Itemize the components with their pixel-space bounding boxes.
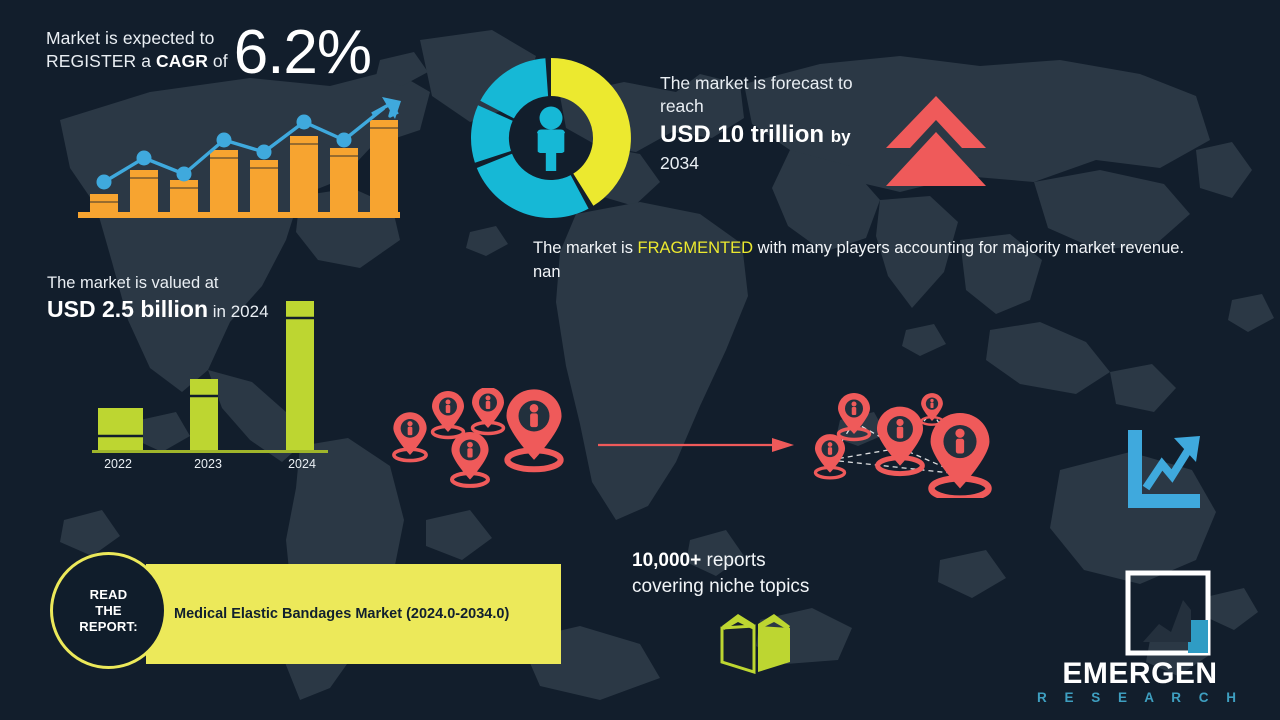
reports-count: 10,000+: [632, 550, 701, 571]
forecast-year: 2034: [660, 152, 910, 174]
forecast-block: The market is forecast to reach USD 10 t…: [660, 72, 910, 174]
cagr-label: Market is expected to REGISTER a CAGR of: [46, 22, 228, 73]
market-value-bar-chart: 2022 2023 2024: [78, 296, 336, 471]
cagr-value: 6.2%: [234, 22, 371, 84]
reports-line2: covering niche topics: [632, 576, 809, 597]
forecast-value: USD 10 trillion: [660, 121, 824, 148]
logo-name: EMERGEN: [1020, 658, 1260, 690]
axis-tick-2022: 2022: [104, 457, 132, 471]
location-pins-network: [808, 386, 1013, 498]
reports-label: reports: [701, 550, 765, 571]
cagr-line2-pre: REGISTER a: [46, 51, 156, 71]
growth-bar-chart: [72, 92, 407, 220]
fragmented-pre: The market is: [533, 239, 638, 257]
read-the-report-label: READTHEREPORT:: [79, 587, 137, 635]
infographic-canvas: Market is expected to REGISTER a CAGR of…: [0, 0, 1280, 720]
valuation-line1: The market is valued at: [47, 272, 377, 294]
cagr-line1: Market is expected to: [46, 28, 214, 48]
forecast-line1: The market is forecast to: [660, 72, 910, 95]
open-book-icon: [718, 612, 794, 674]
fragmented-highlight: FRAGMENTED: [638, 239, 754, 257]
forecast-line2: reach: [660, 95, 910, 118]
person-icon: [537, 107, 565, 172]
up-arrow-icon: [884, 92, 988, 188]
read-the-report-button[interactable]: READTHEREPORT:: [50, 552, 167, 669]
forecast-by: by: [831, 127, 851, 146]
logo-subtitle: R E S E A R C H: [1020, 690, 1260, 705]
growth-chart-icon: [1122, 428, 1202, 510]
cagr-keyword: CAGR: [156, 51, 208, 71]
report-title: Medical Elastic Bandages Market (2024.0-…: [174, 606, 509, 622]
reports-count-block: 10,000+ reports covering niche topics: [632, 548, 932, 600]
report-banner[interactable]: Medical Elastic Bandages Market (2024.0-…: [146, 564, 561, 664]
emergen-research-logo: EMERGEN R E S E A R C H: [1020, 570, 1260, 706]
location-pins-scattered: [382, 388, 582, 494]
axis-tick-2024: 2024: [288, 457, 316, 471]
fragmented-statement: The market is FRAGMENTED with many playe…: [533, 236, 1213, 284]
axis-tick-2023: 2023: [194, 457, 222, 471]
transition-arrow-icon: [596, 434, 796, 456]
logo-mark-icon: [1125, 570, 1211, 656]
cagr-line2-post: of: [208, 51, 228, 71]
market-share-donut: [466, 53, 636, 223]
